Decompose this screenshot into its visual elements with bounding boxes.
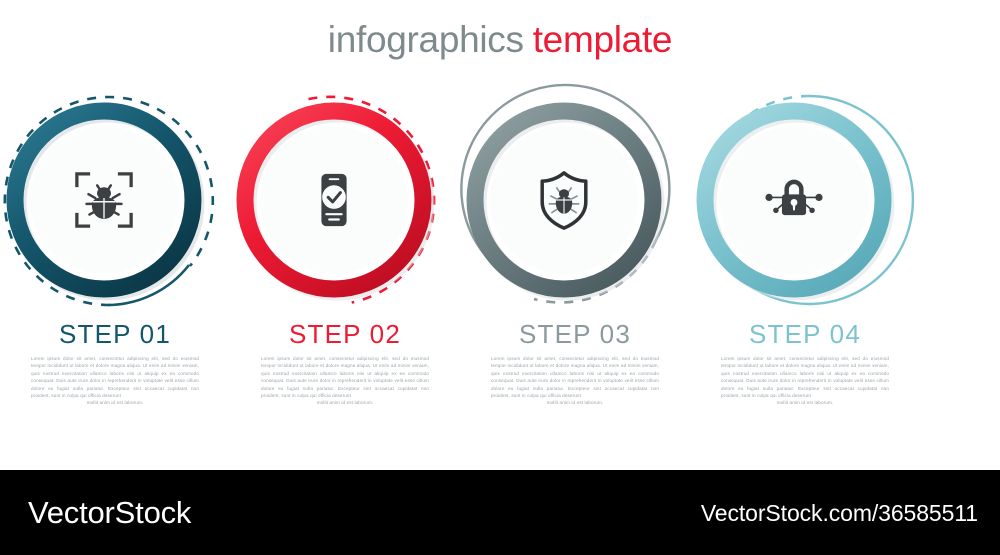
title-primary-text: infographics	[328, 18, 524, 62]
step-item-1[interactable]: STEP 01 Lorem ipsum dolor sit amet, cons…	[0, 88, 230, 448]
step-description-text-2: Lorem ipsum dolor sit amet, consectetur …	[261, 356, 429, 398]
step-label-1: STEP 01	[0, 319, 230, 349]
step-description-lastline-1: mollit anim id est laborum.	[31, 399, 199, 406]
inner-disc-3	[490, 126, 638, 274]
step-badge-2[interactable]	[230, 88, 460, 313]
footer-bar: VectorStock VectorStock.com/36585511	[0, 470, 1000, 555]
step-ring-1	[0, 88, 230, 313]
step-description-3: Lorem ipsum dolor sit amet, consectetur …	[491, 355, 659, 414]
step-description-1: Lorem ipsum dolor sit amet, consectetur …	[31, 355, 199, 414]
footer-brand-text: VectorStock	[28, 496, 191, 530]
step-description-2: Lorem ipsum dolor sit amet, consectetur …	[261, 355, 429, 414]
step-badge-1[interactable]	[0, 88, 230, 313]
step-badge-4[interactable]	[690, 88, 920, 313]
step-label-4: STEP 04	[690, 319, 920, 349]
step-item-3[interactable]: STEP 03 Lorem ipsum dolor sit amet, cons…	[460, 88, 690, 448]
step-description-lastline-3: mollit anim id est laborum.	[491, 399, 659, 406]
step-item-2[interactable]: STEP 02 Lorem ipsum dolor sit amet, cons…	[230, 88, 460, 448]
step-badge-3[interactable]	[460, 88, 690, 313]
steps-row: STEP 01 Lorem ipsum dolor sit amet, cons…	[0, 88, 1000, 448]
step-description-lastline-4: mollit anim id est laborum.	[721, 399, 889, 406]
step-description-text-3: Lorem ipsum dolor sit amet, consectetur …	[491, 356, 659, 398]
step-description-text-1: Lorem ipsum dolor sit amet, consectetur …	[31, 356, 199, 398]
step-ring-4	[690, 88, 920, 313]
footer-url-text: VectorStock.com/36585511	[701, 500, 978, 526]
title-accent-text: template	[533, 18, 673, 62]
step-description-lastline-2: mollit anim id est laborum.	[261, 399, 429, 406]
page-title: infographicstemplate	[0, 18, 1000, 62]
step-description-4: Lorem ipsum dolor sit amet, consectetur …	[721, 355, 889, 414]
step-description-text-4: Lorem ipsum dolor sit amet, consectetur …	[721, 356, 889, 398]
inner-disc-2	[260, 126, 408, 274]
step-label-2: STEP 02	[230, 319, 460, 349]
step-label-3: STEP 03	[460, 319, 690, 349]
inner-disc-1	[30, 126, 178, 274]
step-ring-3	[460, 88, 690, 313]
inner-disc-4	[720, 126, 868, 274]
step-ring-2	[230, 88, 460, 313]
step-item-4[interactable]: STEP 04 Lorem ipsum dolor sit amet, cons…	[690, 88, 920, 448]
infographic-canvas: infographicstemplate	[0, 0, 1000, 555]
